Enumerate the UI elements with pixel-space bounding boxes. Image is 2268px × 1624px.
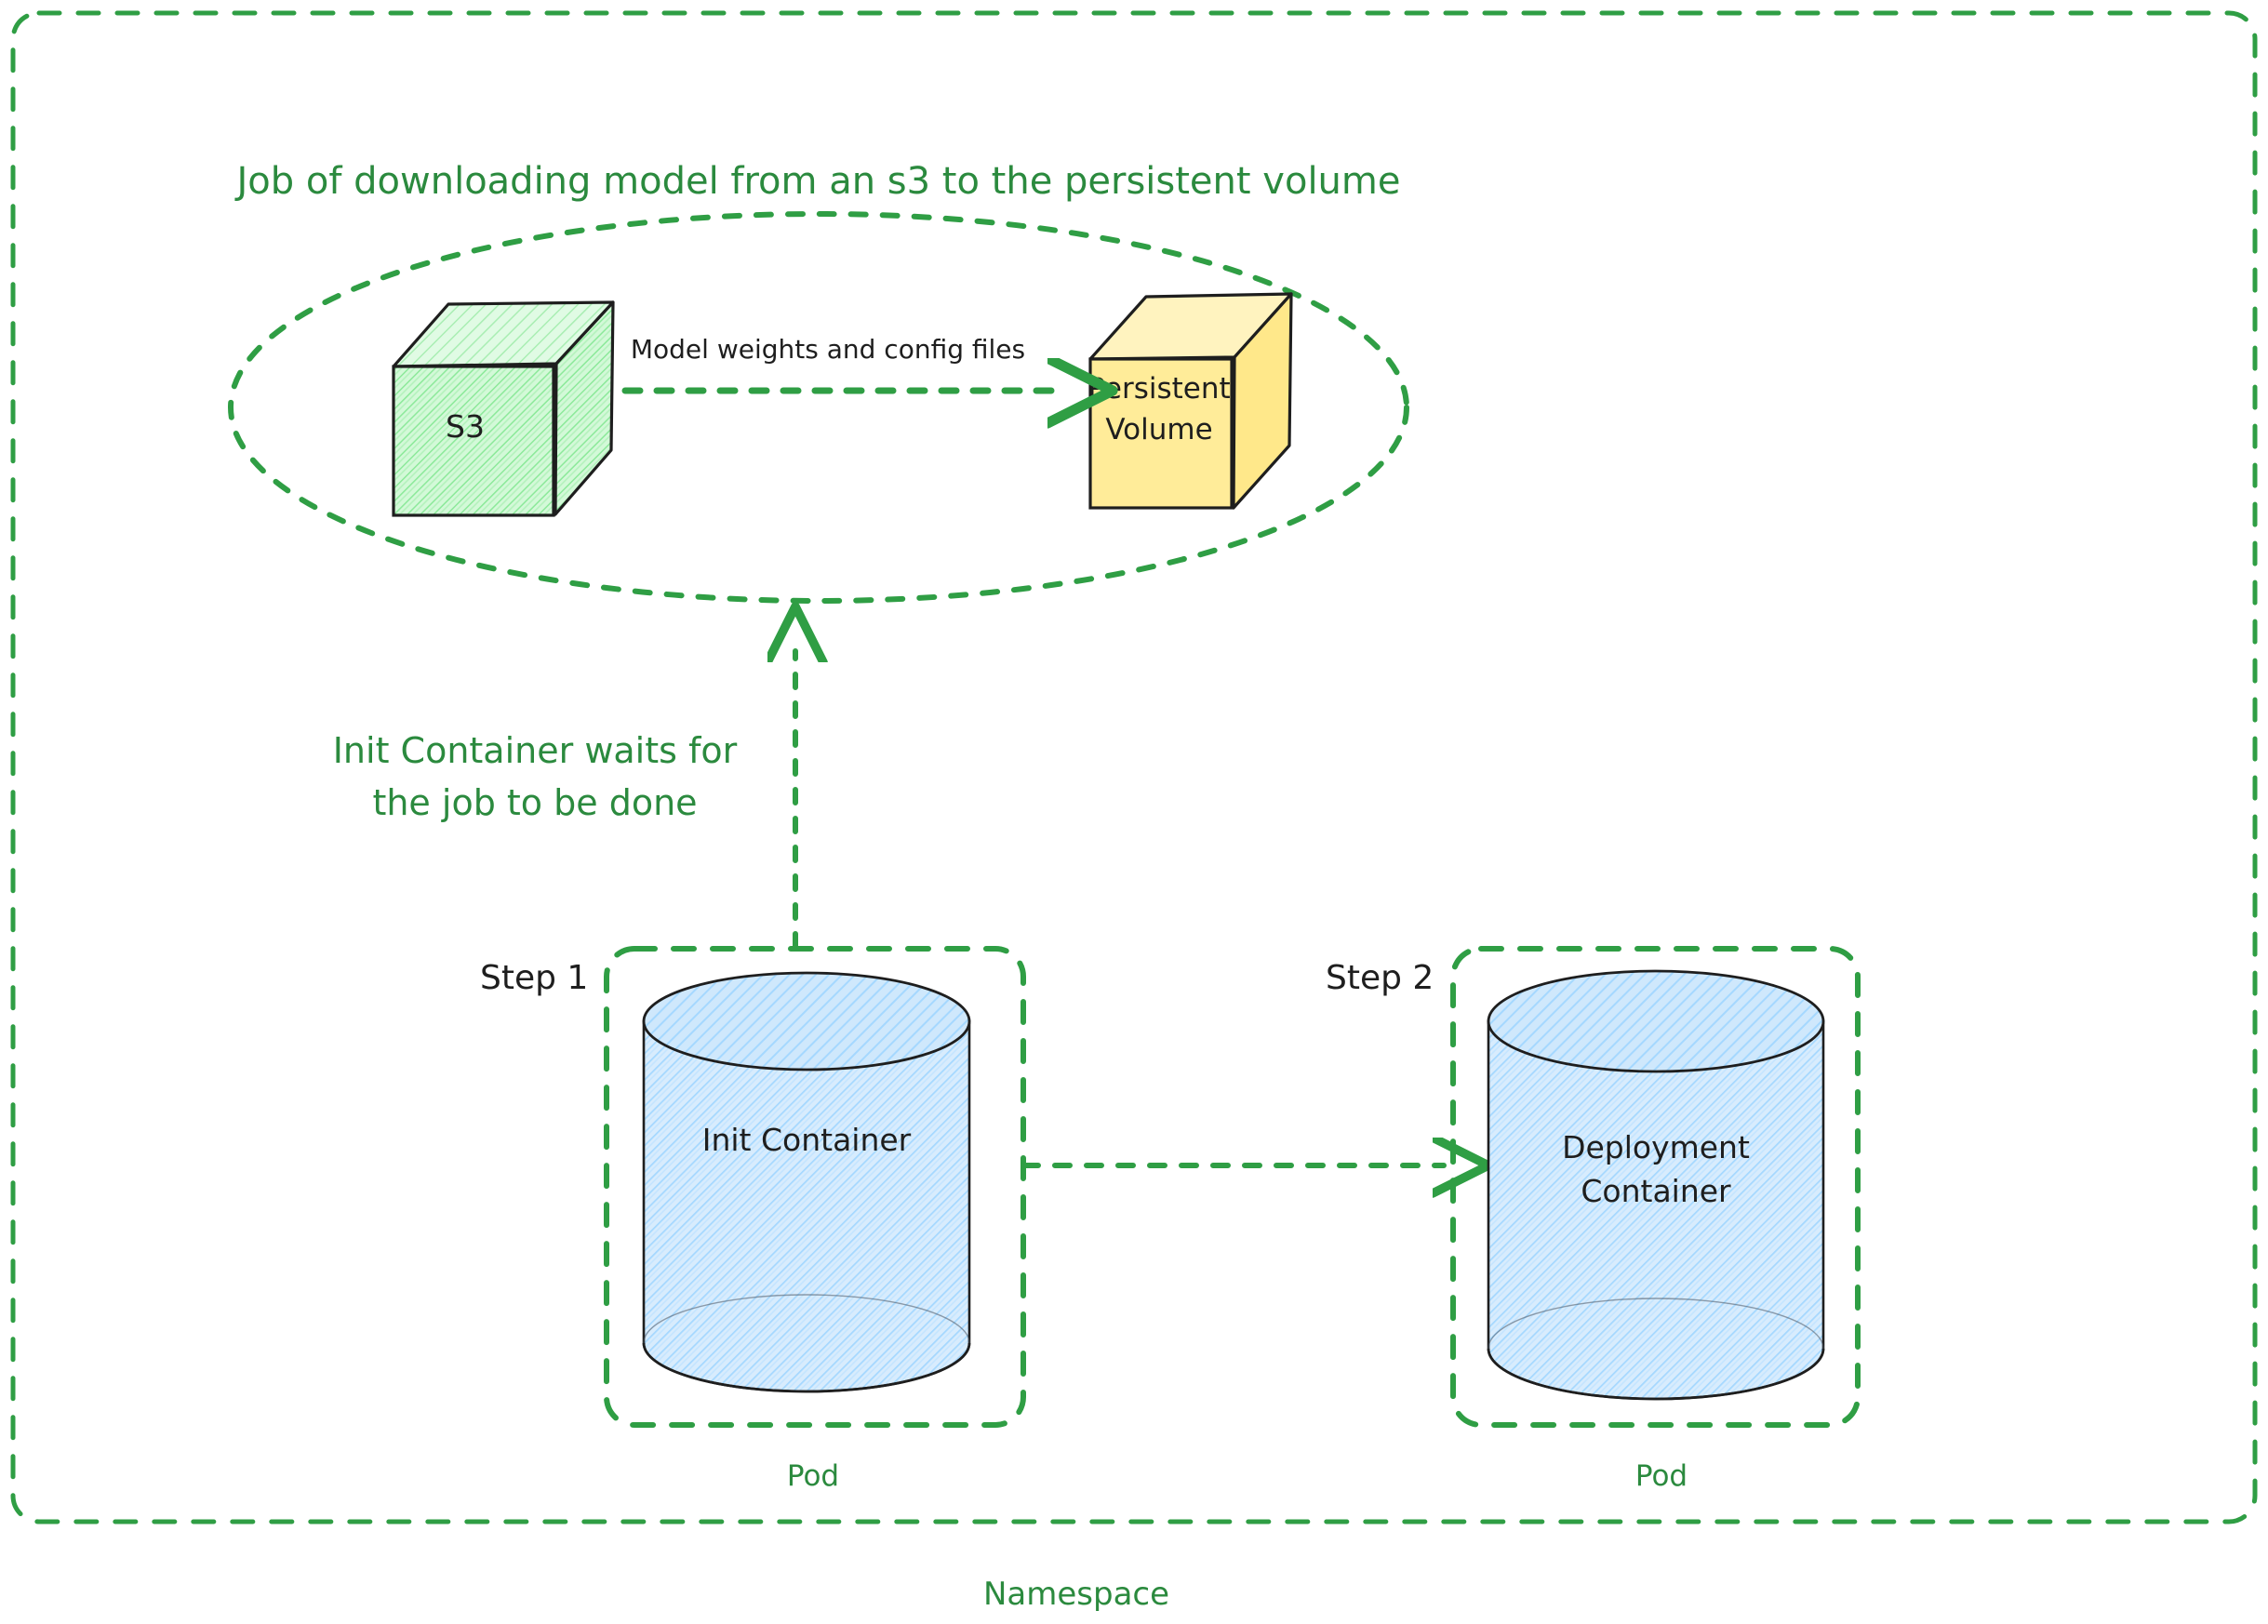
init-container-label: Init Container — [702, 1122, 912, 1158]
job-group-title: Job of downloading model from an s3 to t… — [234, 160, 1401, 203]
pod-1: Init Container Pod — [607, 949, 1023, 1493]
wait-edge-label-line2: the job to be done — [372, 782, 697, 823]
wait-edge-label-line1: Init Container waits for — [333, 730, 738, 771]
diagram-canvas: Job of downloading model from an s3 to t… — [0, 0, 2268, 1624]
persistent-volume-cube: Persistent Volume — [1087, 294, 1291, 508]
step-2-label: Step 2 — [1326, 959, 1434, 997]
init-container-cylinder — [644, 973, 969, 1391]
deployment-container-label-line2: Container — [1581, 1173, 1731, 1209]
pv-cube-label-line2: Volume — [1105, 413, 1212, 446]
pod-1-label: Pod — [787, 1459, 839, 1493]
s3-cube: S3 — [394, 302, 613, 515]
pod-2: Deployment Container Pod — [1453, 949, 1858, 1493]
step-1-label: Step 1 — [480, 959, 588, 997]
model-transfer-arrow-label: Model weights and config files — [631, 334, 1025, 365]
namespace-label: Namespace — [983, 1576, 1169, 1613]
deployment-container-label-line1: Deployment — [1562, 1129, 1750, 1165]
pv-cube-label-line1: Persistent — [1087, 372, 1230, 406]
kubernetes-architecture-diagram: Job of downloading model from an s3 to t… — [0, 0, 2268, 1624]
pod-2-label: Pod — [1635, 1459, 1688, 1493]
s3-cube-label: S3 — [446, 408, 485, 445]
